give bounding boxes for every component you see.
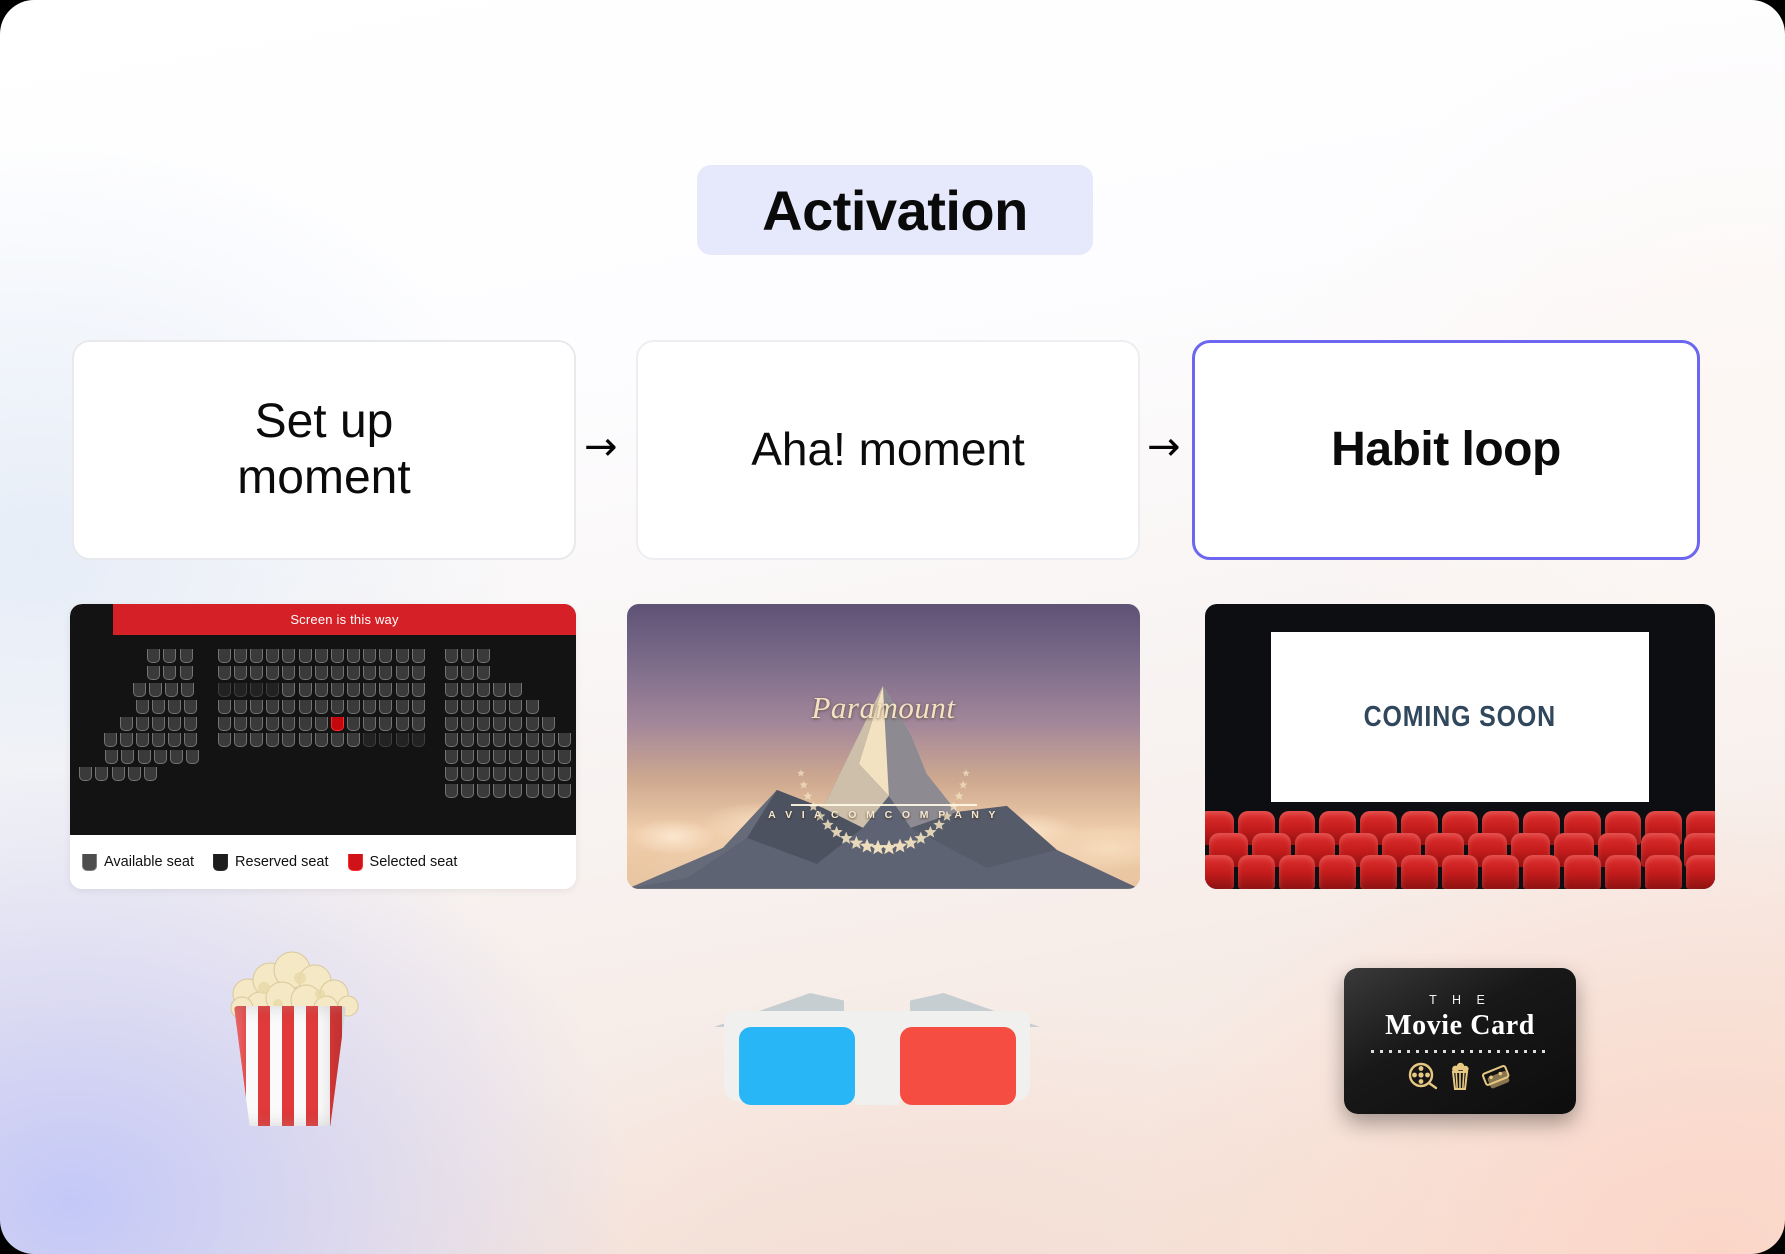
seat-available[interactable] bbox=[363, 717, 376, 731]
seat-block-center[interactable] bbox=[216, 648, 426, 749]
seat-available[interactable] bbox=[396, 683, 409, 697]
seat-grid[interactable] bbox=[70, 638, 576, 831]
seat-available[interactable] bbox=[331, 649, 344, 663]
seat-available[interactable] bbox=[315, 717, 328, 731]
seat-available[interactable] bbox=[445, 683, 458, 697]
seat-row[interactable] bbox=[216, 698, 426, 715]
seat-available[interactable] bbox=[461, 649, 474, 663]
arrow-right-icon-1: → bbox=[584, 427, 618, 467]
seat-available[interactable] bbox=[363, 666, 376, 680]
seat-row[interactable] bbox=[134, 698, 200, 715]
cinema-seat bbox=[1205, 855, 1234, 889]
seat-available[interactable] bbox=[347, 649, 360, 663]
seat-reserved[interactable] bbox=[250, 683, 263, 697]
seat-row[interactable] bbox=[443, 665, 573, 682]
seat-available[interactable] bbox=[234, 649, 247, 663]
seat-available[interactable] bbox=[250, 649, 263, 663]
seat-available[interactable] bbox=[104, 733, 117, 747]
seat-available[interactable] bbox=[315, 649, 328, 663]
seat-available[interactable] bbox=[347, 700, 360, 714]
seat-row[interactable] bbox=[443, 732, 573, 749]
seat-available[interactable] bbox=[542, 767, 555, 781]
seat-row[interactable] bbox=[104, 749, 201, 766]
seat-available[interactable] bbox=[379, 717, 392, 731]
seat-available[interactable] bbox=[477, 750, 490, 764]
seat-available[interactable] bbox=[250, 666, 263, 680]
seat-available[interactable] bbox=[509, 700, 522, 714]
star-arc-icon bbox=[627, 604, 1140, 889]
seat-available[interactable] bbox=[282, 733, 295, 747]
seat-available[interactable] bbox=[509, 767, 522, 781]
seat-available[interactable] bbox=[299, 733, 312, 747]
seat-available[interactable] bbox=[396, 649, 409, 663]
seat-available[interactable] bbox=[542, 750, 555, 764]
paramount-subtitle: A V I A C O M C O M P A N Y bbox=[768, 809, 999, 821]
cinema-seat bbox=[1523, 855, 1560, 889]
seat-available[interactable] bbox=[105, 750, 118, 764]
seat-available[interactable] bbox=[363, 649, 376, 663]
seat-available[interactable] bbox=[128, 767, 141, 781]
seat-available[interactable] bbox=[168, 733, 181, 747]
seat-available[interactable] bbox=[120, 733, 133, 747]
seat-available[interactable] bbox=[461, 750, 474, 764]
seat-available[interactable] bbox=[493, 683, 506, 697]
seat-available[interactable] bbox=[477, 649, 490, 663]
seat-available[interactable] bbox=[152, 717, 165, 731]
seat-reserved[interactable] bbox=[218, 683, 231, 697]
seat-available[interactable] bbox=[152, 700, 165, 714]
cinema-seat bbox=[1442, 855, 1479, 889]
cinema-seat bbox=[1401, 855, 1438, 889]
seat-reserved[interactable] bbox=[363, 733, 376, 747]
seat-available[interactable] bbox=[477, 767, 490, 781]
seat-available[interactable] bbox=[347, 683, 360, 697]
seat-available[interactable] bbox=[315, 733, 328, 747]
seat-row[interactable] bbox=[443, 682, 573, 699]
seat-available[interactable] bbox=[509, 733, 522, 747]
seat-reserved[interactable] bbox=[396, 733, 409, 747]
seat-available[interactable] bbox=[181, 683, 194, 697]
seat-available[interactable] bbox=[331, 683, 344, 697]
seat-reserved[interactable] bbox=[412, 733, 425, 747]
stage-label: Set upmoment bbox=[237, 394, 410, 505]
page-title: Activation bbox=[762, 178, 1028, 243]
legend-label: Available seat bbox=[104, 854, 194, 870]
seat-reserved[interactable] bbox=[379, 733, 392, 747]
glasses-lens-right bbox=[900, 1027, 1016, 1105]
seat-row[interactable] bbox=[443, 648, 573, 665]
seat-available[interactable] bbox=[168, 717, 181, 731]
movie-card-eyebrow: T H E bbox=[1429, 993, 1491, 1007]
3d-glasses-icon bbox=[724, 985, 1030, 1105]
seat-available[interactable] bbox=[234, 666, 247, 680]
glasses-nose-bridge bbox=[855, 1053, 899, 1105]
seat-reserved-icon bbox=[213, 854, 228, 871]
cinema-seat bbox=[1605, 855, 1642, 889]
popcorn-icon bbox=[228, 936, 352, 1126]
seat-available[interactable] bbox=[379, 666, 392, 680]
seat-available[interactable] bbox=[282, 717, 295, 731]
seat-available[interactable] bbox=[493, 784, 506, 798]
seat-available[interactable] bbox=[184, 733, 197, 747]
seat-available[interactable] bbox=[234, 733, 247, 747]
seat-available[interactable] bbox=[266, 666, 279, 680]
seat-available[interactable] bbox=[144, 767, 157, 781]
cinema-screen: COMING SOON bbox=[1271, 632, 1649, 802]
seat-row[interactable] bbox=[443, 765, 573, 782]
seat-available[interactable] bbox=[315, 683, 328, 697]
seat-available[interactable] bbox=[234, 717, 247, 731]
seat-available[interactable] bbox=[509, 750, 522, 764]
seat-available[interactable] bbox=[493, 700, 506, 714]
seat-available[interactable] bbox=[136, 700, 149, 714]
seat-available[interactable] bbox=[461, 733, 474, 747]
legend-item-available: Available seat bbox=[82, 854, 194, 871]
seat-available[interactable] bbox=[461, 700, 474, 714]
seat-row[interactable] bbox=[443, 715, 573, 732]
cinema-seat bbox=[1482, 855, 1519, 889]
seat-available[interactable] bbox=[445, 700, 458, 714]
seat-available[interactable] bbox=[493, 733, 506, 747]
seat-row[interactable] bbox=[443, 698, 573, 715]
seat-available[interactable] bbox=[526, 717, 539, 731]
seat-available[interactable] bbox=[250, 700, 263, 714]
seat-available[interactable] bbox=[266, 733, 279, 747]
seat-available[interactable] bbox=[542, 717, 555, 731]
seat-block-left[interactable] bbox=[76, 648, 201, 782]
seat-available[interactable] bbox=[412, 666, 425, 680]
seat-available[interactable] bbox=[282, 649, 295, 663]
seat-row[interactable] bbox=[102, 732, 201, 749]
legend-item-reserved: Reserved seat bbox=[213, 854, 329, 871]
seat-available[interactable] bbox=[542, 784, 555, 798]
seat-available[interactable] bbox=[121, 750, 134, 764]
seat-available[interactable] bbox=[282, 700, 295, 714]
seat-available[interactable] bbox=[163, 666, 176, 680]
seat-available[interactable] bbox=[477, 700, 490, 714]
seat-row[interactable] bbox=[216, 682, 426, 699]
stage-label: Aha! moment bbox=[751, 423, 1025, 476]
seat-available[interactable] bbox=[147, 649, 160, 663]
seat-available[interactable] bbox=[493, 767, 506, 781]
seat-available[interactable] bbox=[445, 767, 458, 781]
seat-available[interactable] bbox=[477, 666, 490, 680]
cinema-seat bbox=[1238, 855, 1275, 889]
seat-available[interactable] bbox=[445, 784, 458, 798]
seat-row[interactable] bbox=[443, 749, 573, 766]
seat-available[interactable] bbox=[154, 750, 167, 764]
seat-row[interactable] bbox=[146, 648, 201, 665]
seat-available[interactable] bbox=[218, 649, 231, 663]
seat-available[interactable] bbox=[266, 700, 279, 714]
stage-card-aha-moment[interactable]: Aha! moment bbox=[636, 340, 1140, 560]
seat-available[interactable] bbox=[445, 717, 458, 731]
seat-available[interactable] bbox=[165, 683, 178, 697]
tickets-icon bbox=[1482, 1062, 1512, 1090]
seat-available[interactable] bbox=[363, 683, 376, 697]
seat-available[interactable] bbox=[379, 649, 392, 663]
cinema-seat bbox=[1279, 855, 1316, 889]
seat-row[interactable] bbox=[216, 732, 426, 749]
seat-available[interactable] bbox=[180, 666, 193, 680]
seat-available[interactable] bbox=[218, 700, 231, 714]
seat-available[interactable] bbox=[79, 767, 92, 781]
seat-row[interactable] bbox=[118, 715, 201, 732]
seat-available[interactable] bbox=[477, 717, 490, 731]
seat-available[interactable] bbox=[136, 733, 149, 747]
seat-available[interactable] bbox=[558, 767, 571, 781]
seat-available[interactable] bbox=[445, 666, 458, 680]
cinema-seat bbox=[1319, 855, 1356, 889]
seat-reserved[interactable] bbox=[266, 683, 279, 697]
seat-available[interactable] bbox=[331, 700, 344, 714]
seat-available[interactable] bbox=[331, 733, 344, 747]
seat-available[interactable] bbox=[266, 717, 279, 731]
seat-available[interactable] bbox=[526, 784, 539, 798]
seat-available[interactable] bbox=[509, 683, 522, 697]
logo-divider-rule bbox=[791, 804, 977, 806]
seat-selected-icon bbox=[348, 854, 363, 871]
seat-available[interactable] bbox=[461, 717, 474, 731]
seat-available[interactable] bbox=[558, 733, 571, 747]
seat-available[interactable] bbox=[558, 750, 571, 764]
seat-available[interactable] bbox=[412, 717, 425, 731]
seat-row[interactable] bbox=[146, 665, 201, 682]
screen-direction-label: Screen is this way bbox=[290, 612, 398, 627]
seat-available[interactable] bbox=[412, 649, 425, 663]
paramount-logo: Paramount A V I A C O M C O M P A N Y bbox=[627, 604, 1140, 889]
seat-available[interactable] bbox=[363, 700, 376, 714]
seat-available[interactable] bbox=[186, 750, 199, 764]
seat-available[interactable] bbox=[149, 683, 162, 697]
cinema-coming-soon-card[interactable]: COMING SOON bbox=[1205, 604, 1715, 889]
seat-available[interactable] bbox=[138, 750, 151, 764]
stage-label: Habit loop bbox=[1331, 422, 1561, 478]
seat-available[interactable] bbox=[526, 750, 539, 764]
seat-available[interactable] bbox=[112, 767, 125, 781]
cinema-seat-row bbox=[1205, 855, 1715, 889]
cinema-seat bbox=[1564, 855, 1601, 889]
seat-available[interactable] bbox=[347, 666, 360, 680]
legend-label: Reserved seat bbox=[235, 854, 329, 870]
seat-available[interactable] bbox=[299, 666, 312, 680]
cinema-seat bbox=[1360, 855, 1397, 889]
seat-available[interactable] bbox=[250, 717, 263, 731]
seat-available[interactable] bbox=[412, 700, 425, 714]
seat-available[interactable] bbox=[347, 717, 360, 731]
seat-available[interactable] bbox=[147, 666, 160, 680]
seat-available[interactable] bbox=[218, 717, 231, 731]
seat-available[interactable] bbox=[526, 700, 539, 714]
seat-available[interactable] bbox=[163, 649, 176, 663]
seat-available[interactable] bbox=[412, 683, 425, 697]
seat-available[interactable] bbox=[461, 767, 474, 781]
seat-legend: Available seat Reserved seat Selected se… bbox=[70, 835, 576, 889]
cinema-seat bbox=[1645, 855, 1682, 889]
stage-card-habit-loop[interactable]: Habit loop bbox=[1192, 340, 1700, 560]
seat-available[interactable] bbox=[299, 683, 312, 697]
seat-available[interactable] bbox=[379, 683, 392, 697]
seat-available[interactable] bbox=[493, 717, 506, 731]
seat-row[interactable] bbox=[216, 665, 426, 682]
seat-available[interactable] bbox=[95, 767, 108, 781]
seat-row[interactable] bbox=[78, 765, 201, 782]
movie-card-title: Movie Card bbox=[1385, 1010, 1535, 1042]
paramount-wordmark: Paramount bbox=[812, 690, 956, 726]
seat-available[interactable] bbox=[315, 700, 328, 714]
movie-card-divider bbox=[1371, 1050, 1549, 1053]
seat-available[interactable] bbox=[152, 733, 165, 747]
seat-available[interactable] bbox=[331, 666, 344, 680]
seat-available[interactable] bbox=[526, 767, 539, 781]
film-reel-icon bbox=[1408, 1062, 1438, 1090]
seat-available[interactable] bbox=[133, 683, 146, 697]
seat-available-icon bbox=[82, 854, 97, 871]
seat-available[interactable] bbox=[180, 649, 193, 663]
seat-available[interactable] bbox=[396, 700, 409, 714]
arrow-right-icon-2: → bbox=[1147, 427, 1181, 467]
seat-available[interactable] bbox=[542, 733, 555, 747]
seat-available[interactable] bbox=[184, 700, 197, 714]
seat-available[interactable] bbox=[170, 750, 183, 764]
glasses-lens-left bbox=[739, 1027, 855, 1105]
seat-available[interactable] bbox=[445, 649, 458, 663]
seat-available[interactable] bbox=[509, 717, 522, 731]
seat-available[interactable] bbox=[120, 717, 133, 731]
seat-available[interactable] bbox=[299, 700, 312, 714]
seat-available[interactable] bbox=[218, 666, 231, 680]
seat-available[interactable] bbox=[477, 784, 490, 798]
seat-reserved[interactable] bbox=[234, 683, 247, 697]
seat-block-right[interactable] bbox=[443, 648, 573, 799]
seat-available[interactable] bbox=[347, 733, 360, 747]
seat-available[interactable] bbox=[234, 700, 247, 714]
seat-available[interactable] bbox=[493, 750, 506, 764]
seat-available[interactable] bbox=[299, 649, 312, 663]
seat-selected[interactable] bbox=[331, 717, 344, 731]
legend-item-selected: Selected seat bbox=[348, 854, 458, 871]
section-title-pill: Activation bbox=[697, 165, 1093, 255]
slide-canvas: Activation Set upmoment → Aha! moment → … bbox=[0, 0, 1785, 1254]
seat-available[interactable] bbox=[461, 666, 474, 680]
popcorn-icon bbox=[1447, 1062, 1473, 1090]
seat-available[interactable] bbox=[396, 717, 409, 731]
seat-available[interactable] bbox=[396, 666, 409, 680]
stage-card-set-up-moment[interactable]: Set upmoment bbox=[72, 340, 576, 560]
seat-available[interactable] bbox=[461, 683, 474, 697]
cinema-seat-rows bbox=[1205, 811, 1715, 889]
seat-row[interactable] bbox=[216, 648, 426, 665]
popcorn-bucket bbox=[234, 1006, 346, 1126]
movie-card-icon[interactable]: T H E Movie Card bbox=[1344, 968, 1576, 1114]
movie-card-glyph-row bbox=[1408, 1062, 1512, 1090]
seat-row[interactable] bbox=[131, 682, 201, 699]
paramount-logo-card[interactable]: Paramount A V I A C O M C O M P A N Y bbox=[627, 604, 1140, 889]
seat-available[interactable] bbox=[282, 666, 295, 680]
seat-available[interactable] bbox=[526, 733, 539, 747]
seat-map-card[interactable]: Screen is this way Available seat Reserv… bbox=[70, 604, 576, 889]
coming-soon-text: COMING SOON bbox=[1364, 701, 1556, 734]
seat-row[interactable] bbox=[216, 715, 426, 732]
seat-available[interactable] bbox=[266, 649, 279, 663]
legend-label: Selected seat bbox=[370, 854, 458, 870]
seat-available[interactable] bbox=[250, 733, 263, 747]
seat-available[interactable] bbox=[315, 666, 328, 680]
seat-available[interactable] bbox=[282, 683, 295, 697]
seat-available[interactable] bbox=[477, 733, 490, 747]
seat-available[interactable] bbox=[477, 683, 490, 697]
seat-available[interactable] bbox=[461, 784, 474, 798]
seat-available[interactable] bbox=[299, 717, 312, 731]
seat-available[interactable] bbox=[379, 700, 392, 714]
cinema-seat bbox=[1686, 855, 1715, 889]
seat-available[interactable] bbox=[558, 784, 571, 798]
seat-row[interactable] bbox=[443, 782, 573, 799]
seat-available[interactable] bbox=[445, 750, 458, 764]
seat-available[interactable] bbox=[168, 700, 181, 714]
seat-available[interactable] bbox=[136, 717, 149, 731]
seat-available[interactable] bbox=[218, 733, 231, 747]
seat-available[interactable] bbox=[184, 717, 197, 731]
screen-direction-bar: Screen is this way bbox=[113, 604, 576, 635]
seat-available[interactable] bbox=[445, 733, 458, 747]
seat-available[interactable] bbox=[509, 784, 522, 798]
